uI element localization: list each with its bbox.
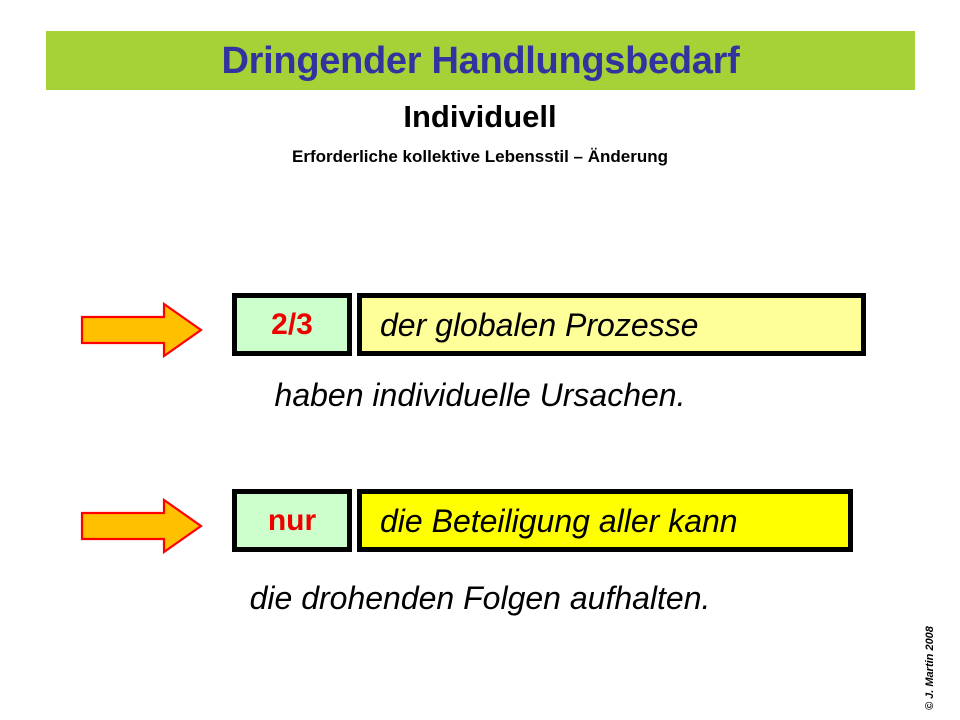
value-box-2: die Beteiligung aller kann — [357, 489, 853, 552]
caption-2: die drohenden Folgen aufhalten. — [0, 581, 960, 616]
value-label-1: der globalen Prozesse — [380, 309, 698, 341]
value-box-1: der globalen Prozesse — [357, 293, 866, 356]
key-box-1: 2/3 — [232, 293, 352, 356]
slide-canvas: Dringender Handlungsbedarf Individuell E… — [0, 0, 960, 720]
value-label-2: die Beteiligung aller kann — [380, 505, 738, 537]
key-label-1: 2/3 — [271, 310, 313, 340]
statement-row-1: 2/3 der globalen Prozesse — [0, 293, 960, 363]
key-label-2: nur — [268, 506, 316, 536]
subtitle-main: Individuell — [0, 100, 960, 134]
right-arrow-icon — [80, 497, 204, 555]
copyright-text: © J. Martin 2008 — [925, 626, 936, 710]
page-title: Dringender Handlungsbedarf — [222, 42, 740, 80]
right-arrow-icon — [80, 301, 204, 359]
subtitle-secondary: Erforderliche kollektive Lebensstil – Än… — [0, 148, 960, 167]
caption-1: haben individuelle Ursachen. — [0, 378, 960, 413]
statement-row-2: nur die Beteiligung aller kann — [0, 489, 960, 559]
copyright-notice: © J. Martin 2008 — [936, 580, 954, 710]
title-banner: Dringender Handlungsbedarf — [46, 31, 915, 90]
key-box-2: nur — [232, 489, 352, 552]
